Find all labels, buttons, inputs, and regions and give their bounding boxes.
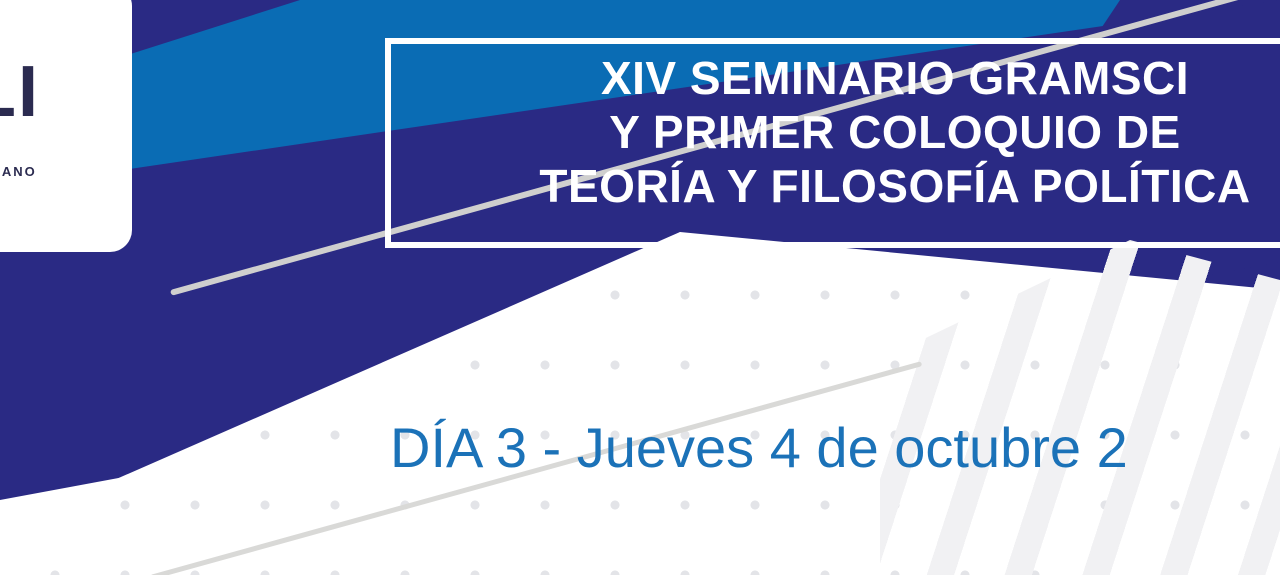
event-banner: LI O MBIANO XIV SEMINARIO GRAMSCI Y PRIM… bbox=[0, 0, 1280, 575]
event-title: XIV SEMINARIO GRAMSCI Y PRIMER COLOQUIO … bbox=[395, 52, 1280, 213]
event-title-line-2: Y PRIMER COLOQUIO DE bbox=[395, 106, 1280, 160]
logo-wordmark: LI bbox=[0, 56, 132, 128]
logo-subtitle-line-1: O bbox=[0, 144, 132, 159]
organization-logo-card: LI O MBIANO bbox=[0, 0, 132, 252]
event-title-line-1: XIV SEMINARIO GRAMSCI bbox=[395, 52, 1280, 106]
event-date-label: DÍA 3 - Jueves 4 de octubre 2 bbox=[390, 415, 1280, 480]
logo-subtitle-line-2: MBIANO bbox=[0, 164, 132, 179]
event-title-line-3: TEORÍA Y FILOSOFÍA POLÍTICA bbox=[395, 160, 1280, 214]
cropped-text-fragment: ca bbox=[0, 487, 32, 529]
